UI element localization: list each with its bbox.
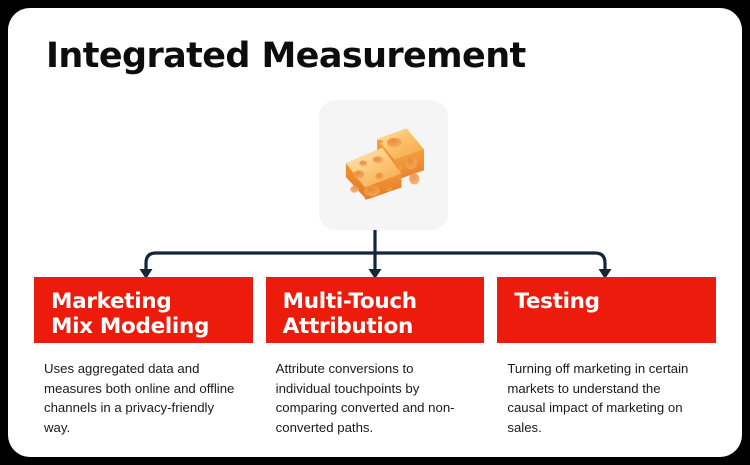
cheese-wedge-icon: [332, 113, 436, 217]
column-description: Uses aggregated data and measures both o…: [44, 359, 235, 437]
column-testing[interactable]: Testing Turning off marketing in certain…: [497, 277, 716, 437]
column-header-multi-touch-attribution: Multi-Touch Attribution: [266, 277, 485, 343]
hero-icon-tile: [319, 100, 448, 230]
column-description: Turning off marketing in certain markets…: [507, 359, 698, 437]
slide-root: Integrated Measurement: [0, 0, 750, 465]
column-header-testing: Testing: [497, 277, 716, 343]
column-body-marketing-mix-modeling: Uses aggregated data and measures both o…: [34, 343, 253, 437]
column-body-testing: Turning off marketing in certain markets…: [497, 343, 716, 437]
column-body-multi-touch-attribution: Attribute conversions to individual touc…: [266, 343, 485, 437]
slide-card: Integrated Measurement: [8, 8, 742, 457]
column-description: Attribute conversions to individual touc…: [276, 359, 467, 437]
column-title: Marketing Mix Modeling: [51, 289, 239, 339]
column-header-marketing-mix-modeling: Marketing Mix Modeling: [34, 277, 253, 343]
column-title: Multi-Touch Attribution: [283, 289, 471, 339]
columns-container: Marketing Mix Modeling Uses aggregated d…: [34, 277, 716, 437]
column-title: Testing: [514, 289, 702, 314]
page-title: Integrated Measurement: [46, 36, 526, 76]
connector-bus: [146, 253, 605, 263]
column-multi-touch-attribution[interactable]: Multi-Touch Attribution Attribute conver…: [266, 277, 485, 437]
column-marketing-mix-modeling[interactable]: Marketing Mix Modeling Uses aggregated d…: [34, 277, 253, 437]
